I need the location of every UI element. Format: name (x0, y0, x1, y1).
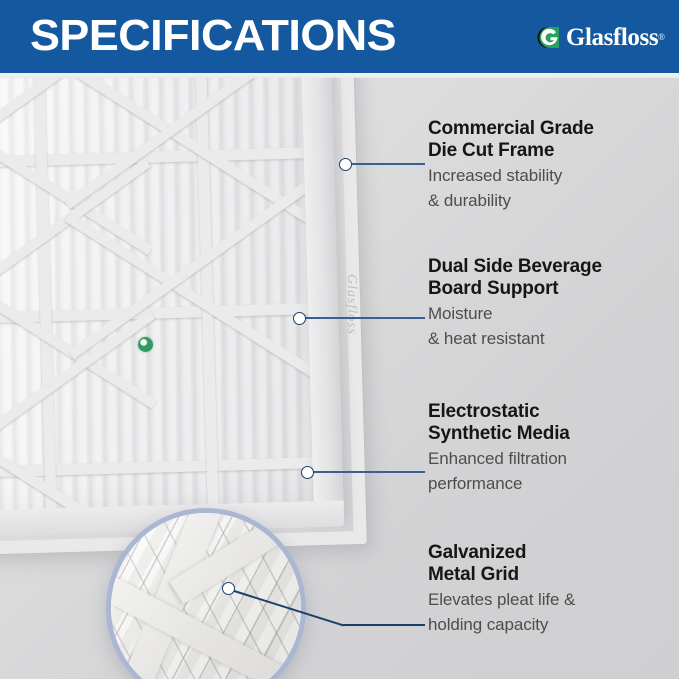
magnifier-sheen (111, 513, 301, 679)
callout-4-title-line2: Metal Grid (428, 564, 678, 586)
specifications-infographic: SPECIFICATIONS Glasfloss ® (0, 0, 679, 679)
callout-1-sub-line1: Increased stability (428, 164, 678, 187)
registered-mark: ® (658, 32, 665, 42)
callout-dot-2 (293, 312, 306, 325)
callout-dot-4 (222, 582, 235, 595)
header-bar: SPECIFICATIONS Glasfloss ® (0, 0, 679, 73)
magnifier-detail-view (106, 508, 306, 679)
glasfloss-g-icon (537, 24, 565, 51)
callout-3-sub-line2: performance (428, 472, 678, 495)
callout-2-sub-line2: & heat resistant (428, 327, 678, 350)
callout-1-title-line1: Commercial Grade (428, 118, 678, 140)
callout-2: Dual Side Beverage Board Support Moistur… (428, 256, 678, 350)
frame-brand-text: Glasfloss (343, 274, 359, 335)
air-filter-product (0, 78, 381, 570)
brand-logo: Glasfloss ® (537, 22, 665, 52)
callout-1-sub-line2: & durability (428, 189, 678, 212)
callout-4-title-line1: Galvanized (428, 542, 678, 564)
callout-dot-3 (301, 466, 314, 479)
callout-4: Galvanized Metal Grid Elevates pleat lif… (428, 542, 678, 636)
callout-3-title-line1: Electrostatic (428, 401, 678, 423)
callout-2-title-line1: Dual Side Beverage (428, 256, 678, 278)
callout-3-title-line2: Synthetic Media (428, 423, 678, 445)
callout-1-title-line2: Die Cut Frame (428, 140, 678, 162)
callout-2-title-line2: Board Support (428, 278, 678, 300)
callout-2-sub-line1: Moisture (428, 302, 678, 325)
brand-name: Glasfloss (566, 24, 658, 51)
callout-4-sub-line2: holding capacity (428, 613, 678, 636)
grid-center-marker (138, 337, 153, 352)
callout-line-3 (311, 471, 425, 473)
callout-1: Commercial Grade Die Cut Frame Increased… (428, 118, 678, 212)
page-title: SPECIFICATIONS (30, 11, 396, 61)
callout-dot-1 (339, 158, 352, 171)
callout-line-2 (303, 317, 425, 319)
callout-3-sub-line1: Enhanced filtration (428, 447, 678, 470)
callout-line-4 (343, 624, 425, 626)
callout-4-sub-line1: Elevates pleat life & (428, 588, 678, 611)
callout-line-1 (349, 163, 425, 165)
callout-3: Electrostatic Synthetic Media Enhanced f… (428, 401, 678, 495)
